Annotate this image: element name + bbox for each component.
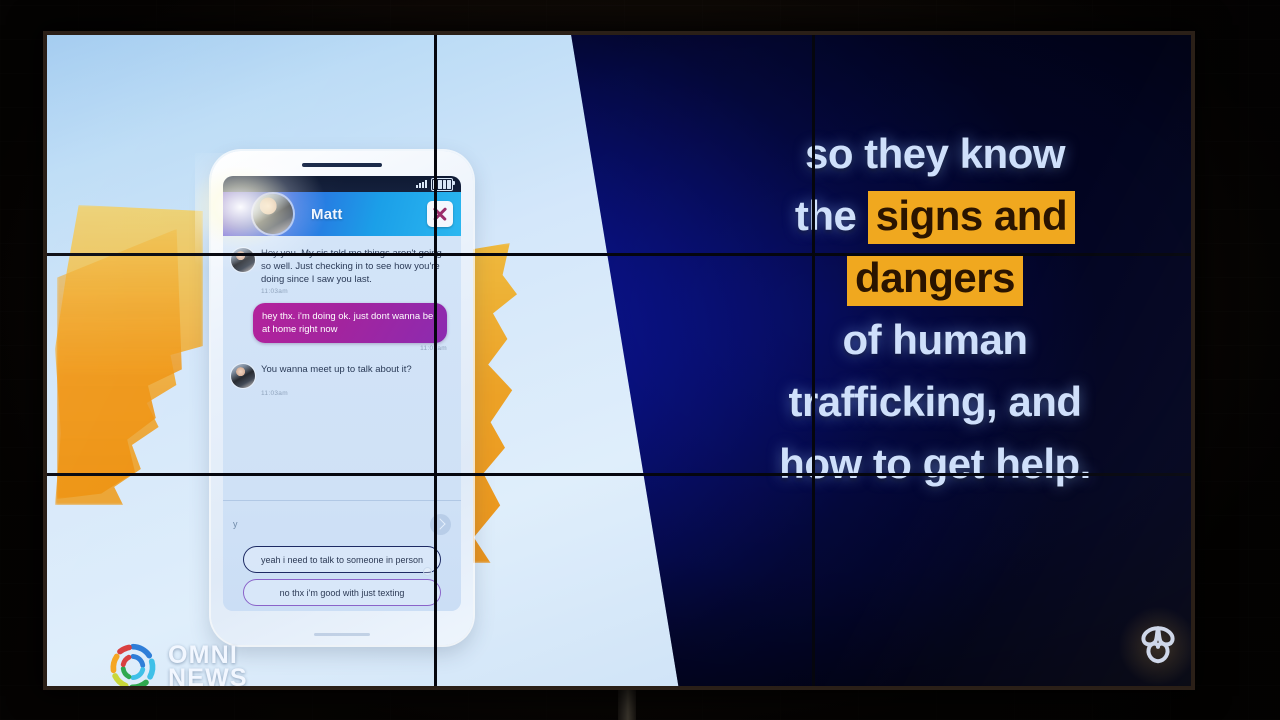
message-row-incoming-2: You wanna meet up to talk about it? [231, 360, 451, 388]
message-text: You wanna meet up to talk about it? [261, 360, 412, 376]
message-input[interactable]: y [233, 519, 238, 529]
close-x-icon[interactable] [427, 201, 453, 227]
caption-line-4: of human [695, 309, 1175, 371]
phone-screen: Matt Hey you. My sis told me things aren… [223, 176, 461, 611]
chat-message-list[interactable]: Hey you. My sis told me things aren't go… [223, 236, 461, 501]
message-timestamp: 11:03am [261, 390, 451, 397]
phone-status-bar [223, 176, 461, 192]
caption-text: how to get help. [779, 440, 1091, 487]
message-avatar [231, 248, 255, 272]
quick-reply-option-2[interactable]: no thx i'm good with just texting [243, 579, 441, 606]
screenshot-root: Matt Hey you. My sis told me things aren… [0, 0, 1280, 720]
chat-composer-area: y yeah i need to talk to someone in pers… [223, 500, 461, 611]
caption-line-3: dangers [695, 247, 1175, 309]
caption-highlight: signs and [868, 191, 1076, 244]
bezel-seam-vertical-1 [434, 33, 437, 688]
mouse-cursor [423, 567, 432, 576]
caption-block: so they know the signs and dangers of hu… [695, 123, 1175, 495]
omni-swirl-icon [107, 641, 159, 688]
message-bubble-outgoing: hey thx. i'm doing ok. just dont wanna b… [253, 303, 447, 343]
bezel-seam-vertical-2 [812, 33, 815, 688]
phone-home-indicator [314, 633, 370, 636]
video-wall-display: Matt Hey you. My sis told me things aren… [45, 33, 1193, 688]
caption-line-1: so they know [695, 123, 1175, 185]
caption-line-6: how to get help. [695, 433, 1175, 495]
chat-header: Matt [223, 192, 461, 236]
phone-earpiece-speaker [302, 163, 382, 167]
message-text: Hey you. My sis told me things aren't go… [261, 244, 443, 286]
caption-text: so they know [805, 130, 1065, 177]
message-timestamp: 11:03am [231, 345, 447, 352]
caption-text: of human [843, 316, 1028, 363]
caption-text: the [795, 192, 868, 239]
caption-line-2: the signs and [695, 185, 1175, 247]
contact-avatar [253, 194, 293, 234]
omni-news-logo: OMNI NEWS [107, 641, 248, 688]
bezel-seam-horizontal-2 [45, 473, 1193, 476]
message-avatar [231, 364, 255, 388]
caption-line-5: trafficking, and [695, 371, 1175, 433]
quick-reply-option-1[interactable]: yeah i need to talk to someone in person [243, 546, 441, 573]
contact-name: Matt [311, 206, 343, 223]
caption-highlight: dangers [847, 253, 1023, 306]
monitor-stand-post [618, 688, 636, 720]
message-timestamp: 11:03am [261, 288, 451, 295]
caption-text: trafficking, and [788, 378, 1081, 425]
message-input-row[interactable]: y [233, 511, 451, 537]
ontario-trillium-icon [1135, 621, 1181, 667]
message-row-incoming-1: Hey you. My sis told me things aren't go… [231, 244, 451, 286]
signal-bars-icon [416, 180, 427, 188]
bezel-seam-horizontal-1 [45, 253, 1193, 256]
omni-logo-line-2: NEWS [168, 667, 248, 688]
